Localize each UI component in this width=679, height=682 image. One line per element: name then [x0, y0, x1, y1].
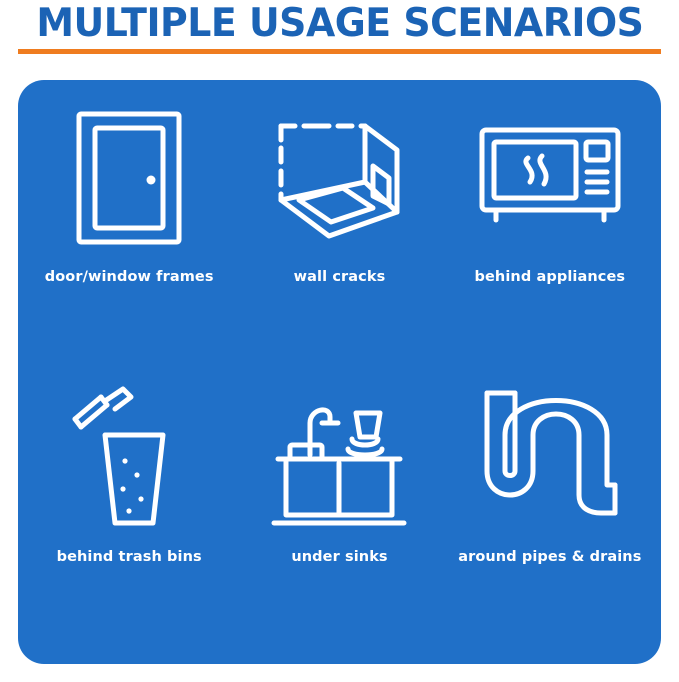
- page-title: MULTIPLE USAGE SCENARIOS: [36, 2, 643, 46]
- scenario-item-behind-appliances: behind appliances: [445, 90, 655, 370]
- sink-icon: [264, 370, 414, 545]
- pipe-drain-icon: [475, 370, 625, 545]
- scenario-item-around-pipes-drains: around pipes & drains: [445, 370, 655, 650]
- scenario-label: behind trash bins: [57, 549, 202, 565]
- scenario-label: under sinks: [291, 549, 387, 565]
- trash-bin-icon: [67, 370, 191, 545]
- scenario-item-under-sinks: under sinks: [234, 370, 444, 650]
- door-icon: [73, 90, 185, 265]
- scenario-label: around pipes & drains: [458, 549, 641, 565]
- scenario-label: wall cracks: [294, 269, 386, 285]
- scenario-label: behind appliances: [475, 269, 626, 285]
- header-divider: [18, 49, 661, 54]
- scenario-label: door/window frames: [45, 269, 214, 285]
- scenario-item-behind-trash-bins: behind trash bins: [24, 370, 234, 650]
- wall-crack-icon: [269, 90, 409, 265]
- header: MULTIPLE USAGE SCENARIOS: [0, 0, 679, 60]
- scenarios-panel: door/window frames: [18, 80, 661, 664]
- scenario-item-door-window-frames: door/window frames: [24, 90, 234, 370]
- scenario-item-wall-cracks: wall cracks: [234, 90, 444, 370]
- scenarios-grid: door/window frames: [18, 80, 661, 664]
- microwave-icon: [476, 90, 624, 265]
- poster: MULTIPLE USAGE SCENARIOS door/window fra…: [0, 0, 679, 682]
